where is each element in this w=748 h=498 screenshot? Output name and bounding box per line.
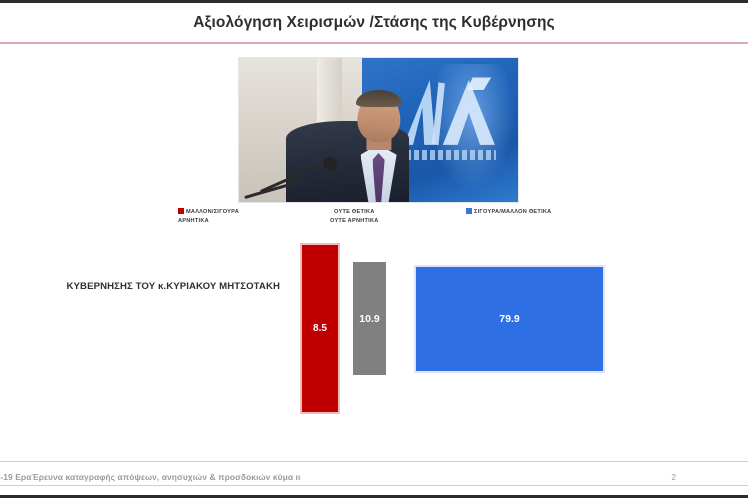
footer-divider-top: [0, 461, 748, 462]
slide-title-band: Αξιολόγηση Χειρισμών /Στάσης της Κυβέρνη…: [0, 3, 748, 42]
footer-source-text: vid-19 ΕραΈρευνα καταγραφής απόψεων, ανη…: [0, 472, 300, 482]
legend-label-neutral-line2: ΟΥΤΕ ΑΡΝΗΤΙΚΑ: [330, 218, 379, 224]
legend-label-positive-line1: ΣΙΓΟΥΡΑ/ΜΑΛΛΟΝ ΘΕΤΙΚΑ: [474, 209, 551, 215]
legend-swatch-positive-icon: [466, 208, 472, 214]
legend-label-neutral-line1: ΟΥΤΕ ΘΕΤΙΚΑ: [334, 209, 375, 215]
bar-chart-plot-area: 8.5 10.9 79.9: [0, 234, 748, 434]
microphone-head-icon: [323, 157, 337, 170]
footer-divider-bottom: [0, 485, 748, 486]
page-title: Αξιολόγηση Χειρισμών /Στάσης της Κυβέρνη…: [193, 14, 555, 32]
slide-canvas: Αξιολόγηση Χειρισμών /Στάσης της Κυβέρνη…: [0, 0, 748, 498]
bar-value-positive: 79.9: [499, 313, 519, 325]
bar-neutral: 10.9: [351, 260, 388, 377]
title-underline: [0, 42, 748, 44]
page-number: 2: [671, 472, 676, 482]
legend-item-positive: ΣΙΓΟΥΡΑ/ΜΑΛΛΟΝ ΘΕΤΙΚΑ: [466, 208, 551, 217]
legend-label-negative-line1: ΜΑΛΛΟΝ/ΣΙΓΟΥΡΑ: [186, 209, 239, 215]
legend-item-neutral: ΟΥΤΕ ΘΕΤΙΚΑ ΟΥΤΕ ΑΡΝΗΤΙΚΑ: [330, 208, 379, 225]
bar-positive: 79.9: [414, 265, 605, 373]
legend-label-negative-line2: ΑΡΝΗΤΙΚΑ: [178, 217, 239, 226]
chart-legend: ΜΑΛΛΟΝ/ΣΙΓΟΥΡΑ ΑΡΝΗΤΙΚΑ ΟΥΤΕ ΘΕΤΙΚΑ ΟΥΤΕ…: [0, 206, 748, 234]
politician-photo: [238, 57, 519, 203]
bar-negative: 8.5: [300, 243, 340, 414]
legend-item-negative: ΜΑΛΛΟΝ/ΣΙΓΟΥΡΑ ΑΡΝΗΤΙΚΑ: [178, 208, 239, 225]
legend-swatch-negative-icon: [178, 208, 184, 214]
bar-value-negative: 8.5: [313, 323, 327, 334]
bar-value-neutral: 10.9: [359, 313, 379, 325]
